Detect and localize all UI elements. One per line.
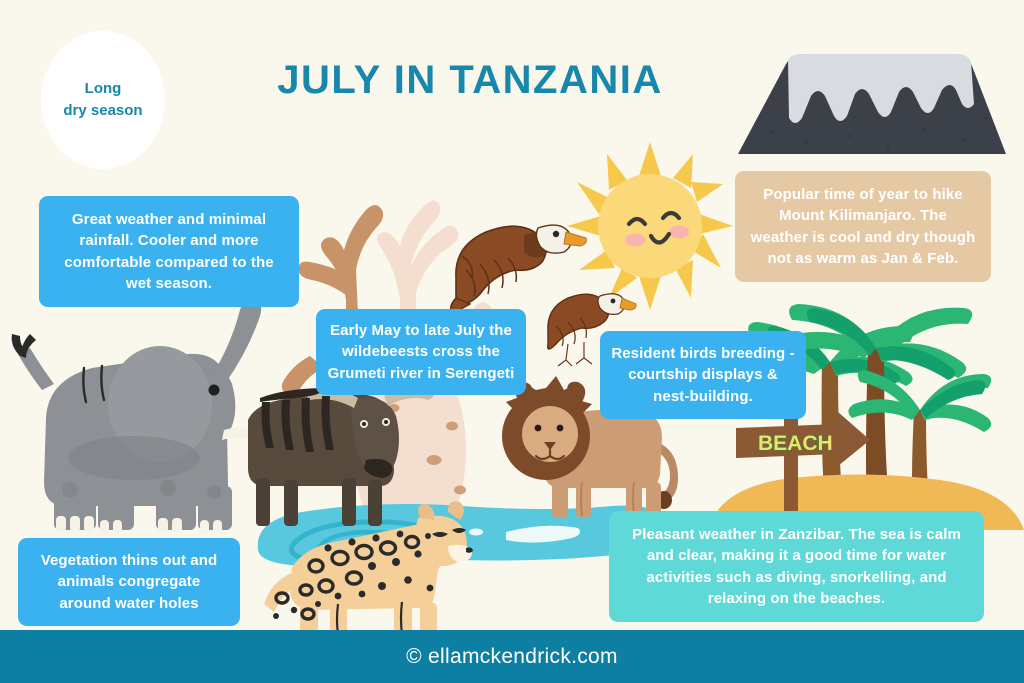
callout-kilimanjaro: Popular time of year to hike Mount Kilim…: [735, 171, 991, 282]
sun-cheek-left: [625, 234, 645, 247]
callout-great-weather: Great weather and minimal rainfall. Cool…: [39, 196, 299, 307]
season-badge-line2: dry season: [63, 100, 142, 122]
beach-sign-label: BEACH: [758, 432, 833, 455]
elephant-belly-shade: [68, 436, 200, 480]
callout-vegetation: Vegetation thins out and animals congreg…: [18, 538, 240, 626]
footer-credit: © ellamckendrick.com: [406, 645, 618, 669]
callout-zanzibar: Pleasant weather in Zanzibar. The sea is…: [609, 511, 984, 622]
season-badge: Long dry season: [41, 31, 165, 169]
callout-wildebeest-migration: Early May to late July the wildebeests c…: [316, 309, 526, 395]
vulture-large-eye: [553, 231, 559, 237]
season-badge-line1: Long: [63, 78, 142, 100]
vulture-small-legs: [558, 342, 592, 366]
leopard-illustration: [262, 492, 492, 640]
sun-cheek-right: [669, 226, 689, 239]
infographic-canvas: BEACH: [0, 0, 1024, 683]
vulture-small-eye: [611, 299, 616, 304]
elephant-eye: [209, 385, 220, 396]
vulture-large-beak: [564, 232, 586, 246]
sun-body: [598, 174, 702, 278]
callout-resident-birds: Resident birds breeding - courtship disp…: [600, 331, 806, 419]
footer-bar: © ellamckendrick.com: [0, 630, 1024, 683]
vulture-small-beak: [620, 298, 636, 310]
